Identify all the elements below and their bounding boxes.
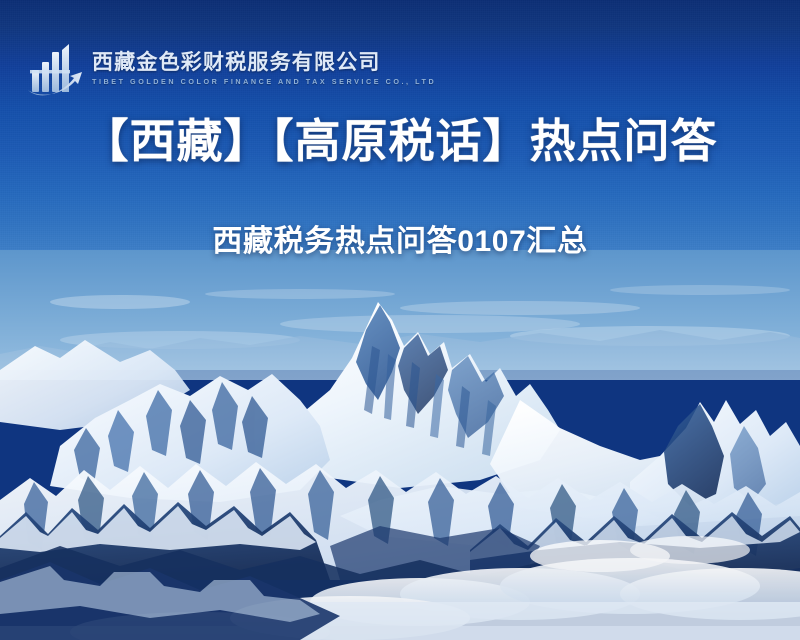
- mountain-illustration: [0, 250, 800, 640]
- company-name-en: TIBET GOLDEN COLOR FINANCE AND TAX SERVI…: [92, 78, 436, 86]
- bar-chart-buildings-swoosh-logo: [26, 40, 84, 96]
- brand-logo-block: 西藏金色彩财税服务有限公司 TIBET GOLDEN COLOR FINANCE…: [26, 40, 436, 96]
- poster-canvas: 西藏金色彩财税服务有限公司 TIBET GOLDEN COLOR FINANCE…: [0, 0, 800, 640]
- page-subtitle: 西藏税务热点问答0107汇总: [0, 224, 800, 260]
- page-title: 【西藏】【高原税话】热点问答: [0, 115, 800, 167]
- brand-text: 西藏金色彩财税服务有限公司 TIBET GOLDEN COLOR FINANCE…: [92, 50, 436, 86]
- mountain-scene: [0, 250, 800, 640]
- company-name-cn: 西藏金色彩财税服务有限公司: [92, 52, 436, 74]
